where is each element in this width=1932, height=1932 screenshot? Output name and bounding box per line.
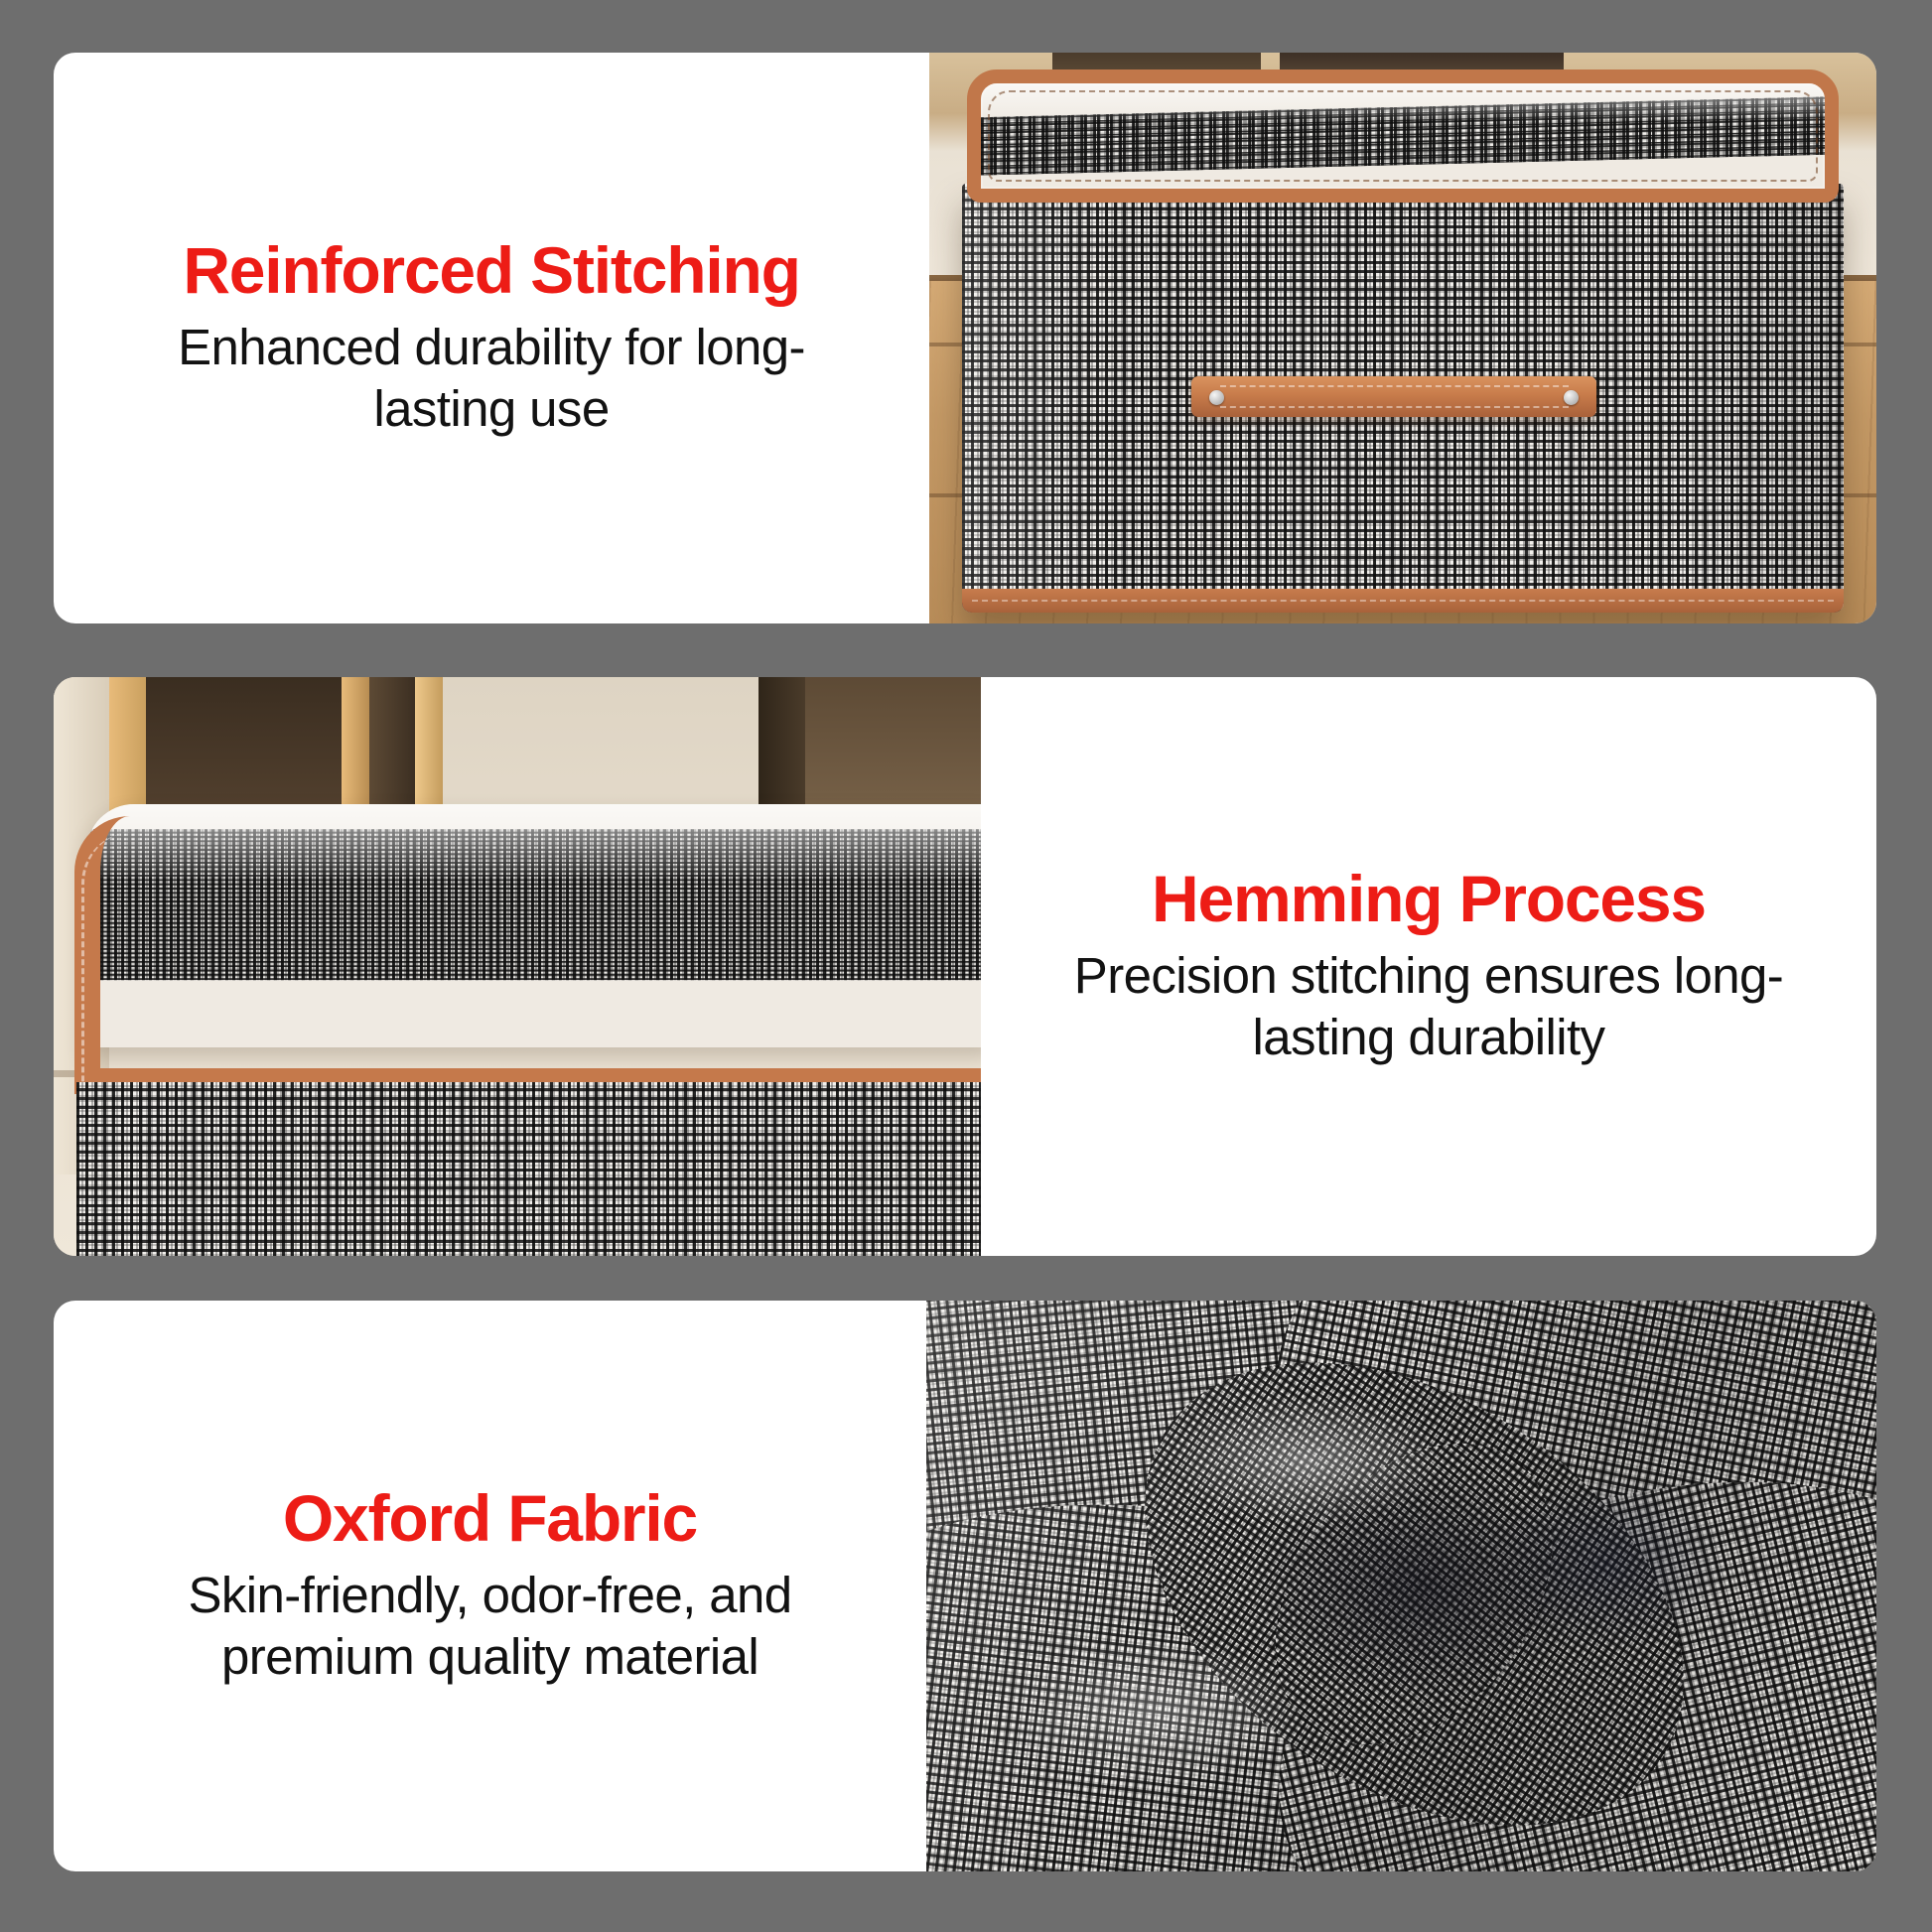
storage-box-base-panel [76,1082,981,1256]
storage-box-lid-closeup [86,804,981,1047]
base-fabric-weave-texture [76,1082,981,1256]
lid-highlight [86,804,981,877]
feature-image-fabric-swatch [926,1301,1876,1871]
bottom-leather-trim [962,589,1843,613]
feature-title: Hemming Process [1152,865,1706,933]
feature-description: Skin-friendly, odor-free, and premium qu… [173,1565,808,1688]
storage-box-body [962,184,1843,613]
storage-box-scene [929,53,1876,623]
feature-card-reinforced-stitching: Reinforced Stitching Enhanced durability… [54,53,1876,623]
feature-infographic: Reinforced Stitching Enhanced durability… [0,0,1932,1932]
feature-card-oxford-fabric: Oxford Fabric Skin-friendly, odor-free, … [54,1301,1876,1871]
lid-closeup-scene [54,677,981,1256]
feature-text-block: Oxford Fabric Skin-friendly, odor-free, … [54,1301,926,1871]
feature-description: Enhanced durability for long-lasting use [164,317,819,440]
floor-line [54,1070,137,1077]
feature-card-hemming-process: Hemming Process Precision stitching ensu… [54,677,1876,1256]
feature-image-storage-box [929,53,1876,623]
storage-box-lid [967,69,1839,203]
oxford-fabric-scene [926,1301,1876,1871]
feature-title: Oxford Fabric [283,1484,697,1553]
feature-text-block: Hemming Process Precision stitching ensu… [981,677,1876,1256]
feature-text-block: Reinforced Stitching Enhanced durability… [54,53,929,623]
storage-box [962,69,1843,612]
leather-handle [1191,376,1596,417]
fabric-swirl-layer [926,1301,1876,1871]
lid-fabric-weave-texture [981,97,1825,176]
feature-image-lid-closeup [54,677,981,1256]
feature-description: Precision stitching ensures long-lasting… [1061,945,1796,1068]
rivet-icon [1564,390,1579,405]
feature-title: Reinforced Stitching [183,236,799,305]
rivet-icon [1209,390,1224,405]
